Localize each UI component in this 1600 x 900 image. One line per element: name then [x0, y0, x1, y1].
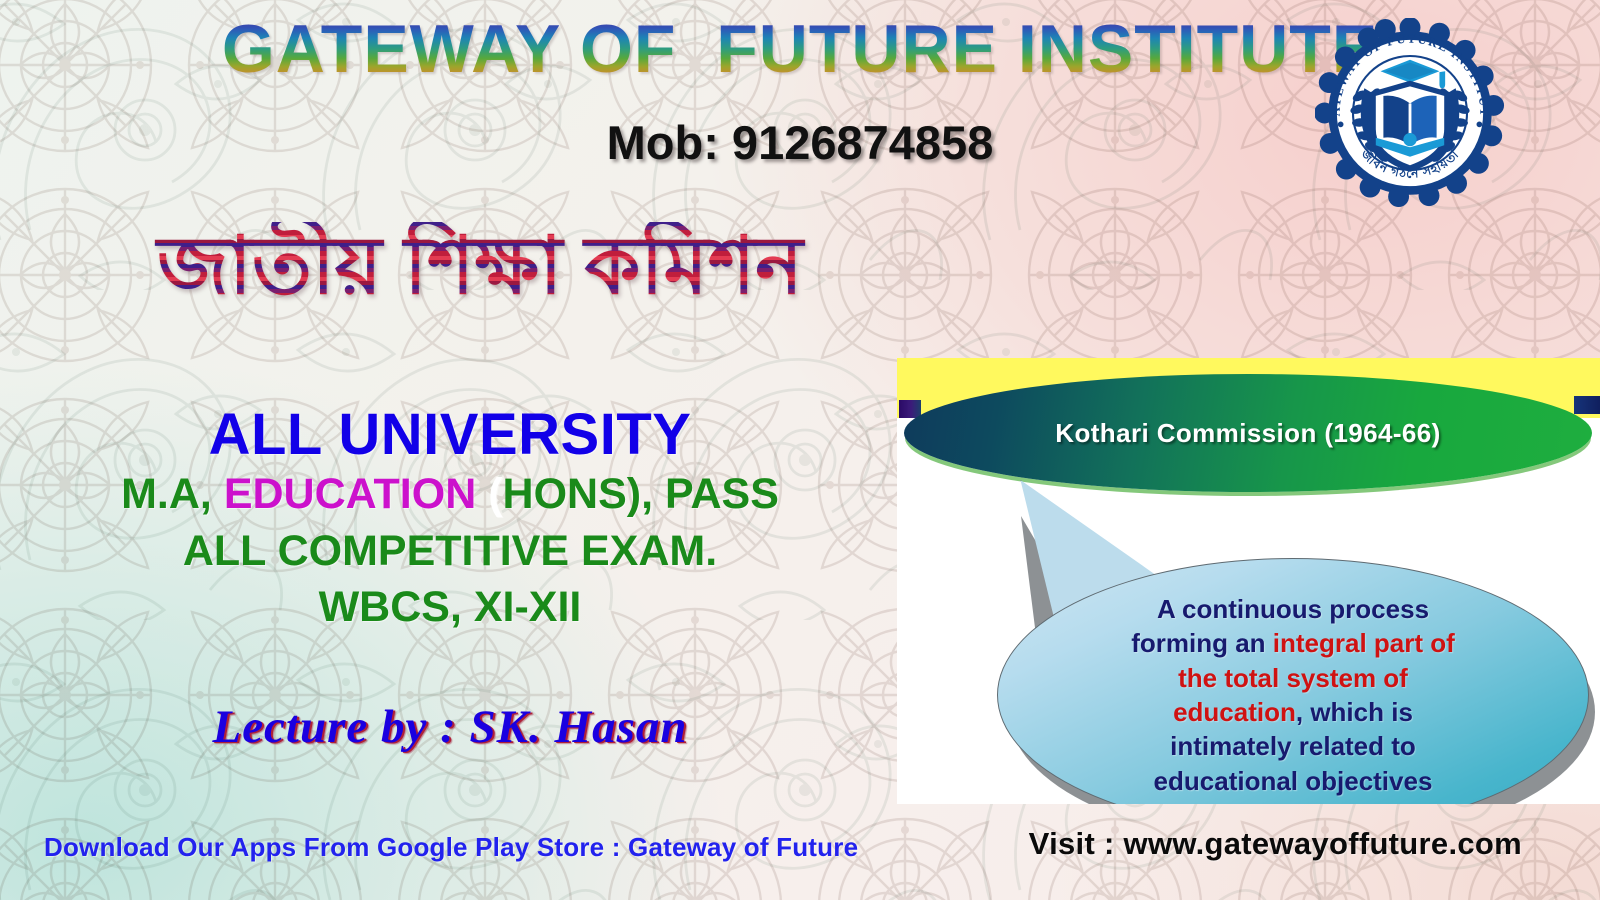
bubble-line-4a: education: [1173, 697, 1296, 727]
institute-seal-logo: GATEWAY OF FUTURE INSTITUTE জীবন গঠনে সহ…: [1315, 18, 1505, 208]
slide-right-marker: [1574, 396, 1600, 414]
course-line-2: ALL COMPETITIVE EXAM.: [60, 523, 840, 580]
course-heading: ALL UNIVERSITY: [60, 405, 840, 466]
course-line1-part-d: HONS), PASS: [503, 470, 779, 518]
bubble-line-2b: integral part of: [1273, 628, 1455, 658]
bubble-line-6: educational objectives: [1154, 766, 1433, 796]
footer-website-text: Visit : www.gatewayoffuture.com: [1029, 826, 1522, 862]
bengali-headline: জাতীয় শিক্ষা কমিশন: [30, 222, 930, 310]
slide-title-text: Kothari Commission (1964-66): [1055, 418, 1440, 449]
course-block: ALL UNIVERSITY M.A, EDUCATION (HONS), PA…: [60, 405, 840, 636]
bubble-line-5: intimately related to: [1170, 731, 1416, 761]
course-line1-part-a: M.A,: [121, 470, 224, 518]
poster-canvas: GATEWAY OF FUTURE INSTITUTE Mob: 9126874…: [0, 0, 1600, 900]
course-line-1: M.A, EDUCATION (HONS), PASS: [60, 466, 840, 523]
lecturer-credit: Lecture by : SK. Hasan: [60, 700, 840, 754]
slide-panel: Kothari Commission (1964-66) A continuou…: [897, 358, 1600, 804]
course-line1-education: EDUCATION: [224, 470, 476, 518]
course-line-3: WBCS, XI-XII: [60, 579, 840, 636]
slide-title-ellipse: Kothari Commission (1964-66): [904, 374, 1592, 492]
footer-app-download-text: Download Our Apps From Google Play Store…: [44, 832, 858, 863]
speech-bubble-text: A continuous process forming an integral…: [1097, 592, 1489, 798]
bubble-line-3: the total system of: [1178, 663, 1408, 693]
bubble-line-1: A continuous process: [1157, 594, 1429, 624]
bubble-line-4b: , which is: [1296, 697, 1413, 727]
bubble-line-2a: forming an: [1131, 628, 1273, 658]
course-line1-part-c: (: [476, 470, 502, 518]
